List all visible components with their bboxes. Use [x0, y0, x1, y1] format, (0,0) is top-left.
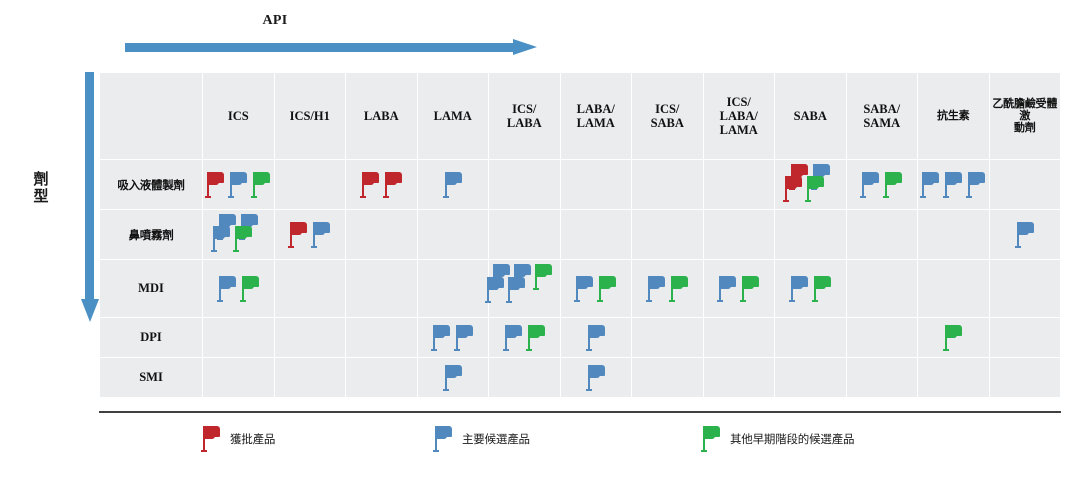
column-header-line: LAMA: [561, 116, 632, 130]
flag-group: [775, 260, 846, 317]
column-header-line: 乙酰膽鹼受體激: [990, 98, 1061, 123]
flag-group: [561, 318, 632, 357]
matrix-cell-r5-c3: [346, 358, 417, 397]
flag-group: [346, 160, 417, 209]
matrix-cell-r5-c7: [632, 358, 703, 397]
matrix-cell-r3-c11: [918, 260, 989, 317]
matrix-cell-r4-c3: [346, 318, 417, 357]
matrix-cell-r4-c10: [847, 318, 918, 357]
flag-cloth: [600, 276, 616, 287]
matrix-cell-r1-c9: [775, 160, 846, 209]
flag-marker-blue: [210, 224, 232, 254]
flag-marker-blue: [585, 323, 607, 353]
flag-group: [203, 260, 274, 317]
column-header-11: 抗生素: [918, 73, 989, 159]
flag-group: [775, 160, 846, 209]
matrix-cell-r1-c5: [489, 160, 560, 209]
flag-marker-blue: [585, 363, 607, 393]
column-header-line: SABA: [775, 109, 846, 123]
column-header-line: ICS/: [632, 102, 703, 116]
footer-rule: [99, 411, 1061, 413]
flag-cloth: [808, 176, 824, 187]
flag-marker-green: [250, 170, 272, 200]
flag-marker-blue: [859, 170, 881, 200]
flag-marker-blue: [453, 323, 475, 353]
flag-group: [418, 160, 489, 209]
dosage-form-axis-title-char-2: 型: [26, 189, 56, 206]
flag-cloth: [204, 426, 220, 437]
row-header-5: SMI: [100, 358, 202, 397]
flag-cloth: [457, 325, 473, 336]
matrix-cell-r2-c7: [632, 210, 703, 259]
matrix-cell-r1-c7: [632, 160, 703, 209]
flag-marker-red: [782, 174, 804, 204]
matrix-cell-r3-c7: [632, 260, 703, 317]
flag-marker-blue: [573, 274, 595, 304]
matrix-row: 鼻噴霧劑: [100, 210, 1060, 259]
matrix-cell-r2-c8: [704, 210, 775, 259]
column-header-line: ICS/H1: [275, 109, 346, 123]
column-header-line: LABA: [346, 109, 417, 123]
flag-group: [203, 210, 274, 259]
matrix-cell-r5-c11: [918, 358, 989, 397]
flag-marker-blue: [942, 170, 964, 200]
flag-marker-green: [739, 274, 761, 304]
flag-marker-red: [200, 424, 222, 454]
flag-group: [847, 160, 918, 209]
flag-cloth: [720, 276, 736, 287]
flag-group: [489, 318, 560, 357]
matrix-cell-r3-c5: [489, 260, 560, 317]
flag-marker-green: [942, 323, 964, 353]
flag-cloth: [436, 426, 452, 437]
matrix-cell-r3-c4: [418, 260, 489, 317]
dosage-form-axis-title-char-1: 劑: [26, 172, 56, 189]
matrix-cell-r4-c9: [775, 318, 846, 357]
flag-group: [704, 260, 775, 317]
flag-marker-blue: [310, 220, 332, 250]
flag-group: [918, 160, 989, 209]
flag-group: [561, 260, 632, 317]
arrow-head: [513, 39, 537, 55]
column-header-line: 動劑: [990, 122, 1061, 134]
matrix-cell-r4-c6: [561, 318, 632, 357]
legend-label: 獲批產品: [230, 424, 275, 447]
matrix-cell-r5-c2: [275, 358, 346, 397]
flag-marker-green: [532, 262, 554, 292]
matrix-cell-r1-c3: [346, 160, 417, 209]
legend-label: 其他早期階段的候選產品: [730, 424, 854, 447]
flag-marker-red: [382, 170, 404, 200]
column-header-line: LABA/: [561, 102, 632, 116]
flag-cloth: [886, 172, 902, 183]
flag-cloth: [863, 172, 879, 183]
flag-cloth: [220, 276, 236, 287]
flag-cloth: [946, 325, 962, 336]
flag-cloth: [923, 172, 939, 183]
column-header-5: ICS/LABA: [489, 73, 560, 159]
matrix-cell-r2-c3: [346, 210, 417, 259]
matrix-cell-r1-c8: [704, 160, 775, 209]
flag-cloth: [506, 325, 522, 336]
column-header-1: ICS: [203, 73, 274, 159]
flag-cloth: [231, 172, 247, 183]
flag-group: [918, 318, 989, 357]
column-header-line: ICS: [203, 109, 274, 123]
flag-cloth: [509, 277, 525, 288]
matrix-cell-r5-c8: [704, 358, 775, 397]
flag-marker-green: [882, 170, 904, 200]
matrix-row: MDI: [100, 260, 1060, 317]
flag-cloth: [446, 172, 462, 183]
flag-cloth: [589, 365, 605, 376]
flag-marker-green: [811, 274, 833, 304]
flag-marker-green: [804, 174, 826, 204]
column-header-2: ICS/H1: [275, 73, 346, 159]
matrix-cell-r2-c9: [775, 210, 846, 259]
legend-item-green: 其他早期階段的候選產品: [700, 424, 854, 454]
arrow-head: [81, 299, 99, 322]
matrix-cell-r4-c7: [632, 318, 703, 357]
column-header-line: SABA: [632, 116, 703, 130]
row-header-1: 吸入液體製劑: [100, 160, 202, 209]
flag-marker-blue: [227, 170, 249, 200]
matrix-cell-r4-c11: [918, 318, 989, 357]
row-header-3: MDI: [100, 260, 202, 317]
flag-cloth: [704, 426, 720, 437]
flag-group: [990, 210, 1061, 259]
down-arrow-icon: [81, 72, 99, 322]
flag-marker-red: [359, 170, 381, 200]
column-header-line: SAMA: [847, 116, 918, 130]
matrix-cell-r3-c12: [990, 260, 1061, 317]
column-header-line: 抗生素: [918, 110, 989, 122]
matrix-cell-r4-c8: [704, 318, 775, 357]
row-header-2: 鼻噴霧劑: [100, 210, 202, 259]
dosage-form-axis-title: 劑 型: [26, 172, 56, 206]
column-header-line: ICS/: [704, 95, 775, 109]
column-header-3: LABA: [346, 73, 417, 159]
flag-cloth: [946, 172, 962, 183]
flag-marker-green: [668, 274, 690, 304]
flag-cloth: [434, 325, 450, 336]
matrix-cell-r3-c2: [275, 260, 346, 317]
flag-cloth: [577, 276, 593, 287]
flag-group: [561, 358, 632, 397]
matrix-cell-r2-c12: [990, 210, 1061, 259]
flag-marker-blue: [502, 323, 524, 353]
matrix-row: DPI: [100, 318, 1060, 357]
matrix-cell-r4-c2: [275, 318, 346, 357]
api-dosage-matrix: ICSICS/H1LABALAMAICS/LABALABA/LAMAICS/SA…: [99, 72, 1061, 398]
arrow-shaft: [85, 72, 94, 300]
flag-marker-red: [287, 220, 309, 250]
flag-group: [632, 260, 703, 317]
flag-cloth: [529, 325, 545, 336]
column-header-4: LAMA: [418, 73, 489, 159]
matrix-cell-r3-c6: [561, 260, 632, 317]
api-axis-title: API: [215, 13, 335, 29]
flag-marker-blue: [1014, 220, 1036, 250]
matrix-cell-r2-c2: [275, 210, 346, 259]
matrix-cell-r1-c6: [561, 160, 632, 209]
flag-cloth: [1018, 222, 1034, 233]
matrix-cell-r1-c1: [203, 160, 274, 209]
matrix-cell-r3-c3: [346, 260, 417, 317]
matrix-header: ICSICS/H1LABALAMAICS/LABALABA/LAMAICS/SA…: [100, 73, 1060, 159]
matrix-cell-r2-c5: [489, 210, 560, 259]
matrix-cell-r3-c8: [704, 260, 775, 317]
legend-label: 主要候選產品: [462, 424, 530, 447]
column-header-12: 乙酰膽鹼受體激動劑: [990, 73, 1061, 159]
flag-cloth: [536, 264, 552, 275]
legend: 獲批產品主要候選產品其他早期階段的候選產品: [99, 424, 1061, 464]
matrix-cell-r5-c5: [489, 358, 560, 397]
flag-cloth: [363, 172, 379, 183]
legend-item-blue: 主要候選產品: [432, 424, 530, 454]
flag-cloth: [589, 325, 605, 336]
header-row: ICSICS/H1LABALAMAICS/LABALABA/LAMAICS/SA…: [100, 73, 1060, 159]
flag-cloth: [254, 172, 270, 183]
column-header-line: LABA: [489, 116, 560, 130]
row-header-4: DPI: [100, 318, 202, 357]
flag-cloth: [488, 277, 504, 288]
flag-marker-blue: [788, 274, 810, 304]
matrix-cell-r3-c9: [775, 260, 846, 317]
flag-cloth: [649, 276, 665, 287]
matrix-cell-r2-c6: [561, 210, 632, 259]
flag-marker-blue: [505, 275, 527, 305]
column-header-7: ICS/SABA: [632, 73, 703, 159]
matrix-cell-r3-c10: [847, 260, 918, 317]
matrix-cell-r2-c1: [203, 210, 274, 259]
column-header-line: LAMA: [704, 123, 775, 137]
flag-cloth: [515, 264, 531, 275]
column-header-line: SABA/: [847, 102, 918, 116]
matrix-cell-r1-c2: [275, 160, 346, 209]
matrix-cell-r4-c1: [203, 318, 274, 357]
flag-group: [203, 160, 274, 209]
flag-cloth: [786, 176, 802, 187]
flag-marker-blue: [432, 424, 454, 454]
matrix-cell-r5-c9: [775, 358, 846, 397]
matrix-cell-r4-c4: [418, 318, 489, 357]
flag-marker-red: [204, 170, 226, 200]
flag-marker-blue: [965, 170, 987, 200]
column-header-10: SABA/SAMA: [847, 73, 918, 159]
flag-group: [418, 318, 489, 357]
flag-cloth: [743, 276, 759, 287]
flag-group: [418, 358, 489, 397]
matrix-cell-r3-c1: [203, 260, 274, 317]
matrix-cell-r2-c10: [847, 210, 918, 259]
flag-cloth: [243, 276, 259, 287]
flag-marker-blue: [484, 275, 506, 305]
matrix-cell-r1-c10: [847, 160, 918, 209]
flag-marker-green: [525, 323, 547, 353]
flag-marker-green: [239, 274, 261, 304]
matrix-cell-r1-c12: [990, 160, 1061, 209]
flag-cloth: [494, 264, 510, 275]
matrix-cell-r5-c10: [847, 358, 918, 397]
column-header-line: ICS/: [489, 102, 560, 116]
flag-cloth: [386, 172, 402, 183]
matrix-cell-r5-c1: [203, 358, 274, 397]
matrix-cell-r5-c12: [990, 358, 1061, 397]
matrix-row: 吸入液體製劑: [100, 160, 1060, 209]
flag-marker-green: [700, 424, 722, 454]
matrix-row: SMI: [100, 358, 1060, 397]
flag-marker-blue: [716, 274, 738, 304]
matrix-cell-r2-c11: [918, 210, 989, 259]
column-header-line: LAMA: [418, 109, 489, 123]
column-header-line: LABA/: [704, 109, 775, 123]
flag-group: [275, 210, 346, 259]
flag-marker-green: [596, 274, 618, 304]
arrow-shaft: [125, 43, 513, 52]
flag-cloth: [815, 276, 831, 287]
matrix-cell-r2-c4: [418, 210, 489, 259]
matrix-cell-r5-c4: [418, 358, 489, 397]
flag-marker-blue: [442, 363, 464, 393]
flag-marker-blue: [442, 170, 464, 200]
flag-marker-green: [232, 224, 254, 254]
matrix-cell-r1-c4: [418, 160, 489, 209]
matrix-cell-r4-c5: [489, 318, 560, 357]
flag-cloth: [314, 222, 330, 233]
column-header-6: LABA/LAMA: [561, 73, 632, 159]
flag-cloth: [446, 365, 462, 376]
matrix-corner-cell: [100, 73, 202, 159]
flag-cloth: [214, 226, 230, 237]
flag-marker-blue: [216, 274, 238, 304]
column-header-9: SABA: [775, 73, 846, 159]
matrix-body: 吸入液體製劑鼻噴霧劑MDIDPISMI: [100, 160, 1060, 397]
flag-cloth: [291, 222, 307, 233]
flag-cloth: [236, 226, 252, 237]
flag-marker-blue: [430, 323, 452, 353]
matrix-cell-r5-c6: [561, 358, 632, 397]
matrix-cell-r1-c11: [918, 160, 989, 209]
flag-group: [489, 260, 560, 317]
right-arrow-icon: [125, 39, 537, 55]
legend-item-red: 獲批產品: [200, 424, 275, 454]
flag-cloth: [672, 276, 688, 287]
flag-cloth: [969, 172, 985, 183]
flag-marker-blue: [919, 170, 941, 200]
flag-cloth: [792, 276, 808, 287]
matrix-cell-r4-c12: [990, 318, 1061, 357]
flag-cloth: [208, 172, 224, 183]
column-header-8: ICS/LABA/LAMA: [704, 73, 775, 159]
flag-marker-blue: [645, 274, 667, 304]
